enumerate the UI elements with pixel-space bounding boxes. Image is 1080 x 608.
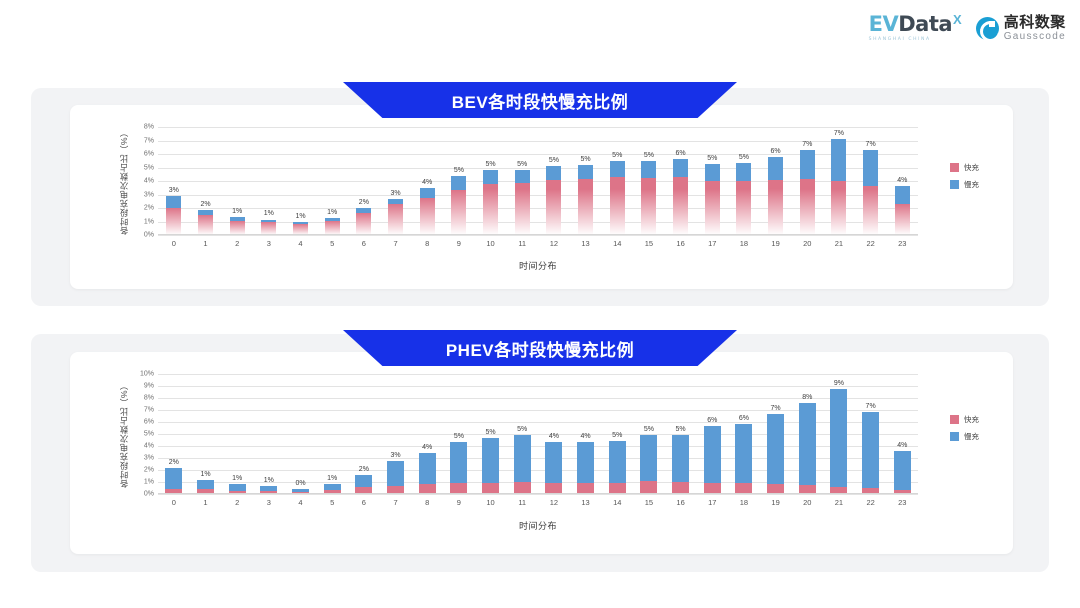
bar-column[interactable]: 105% bbox=[475, 127, 507, 235]
bar-segment-fast-charge[interactable] bbox=[863, 186, 878, 235]
bar-segment-slow-charge[interactable] bbox=[831, 139, 846, 181]
bar-segment-fast-charge[interactable] bbox=[641, 178, 656, 235]
bar-column[interactable]: 175% bbox=[696, 127, 728, 235]
chart-bev-x-axis-label: 时间分布 bbox=[519, 259, 557, 272]
stacked-bar[interactable]: 5% bbox=[705, 164, 720, 235]
stacked-bar[interactable]: 7% bbox=[767, 414, 784, 494]
x-axis-tick: 10 bbox=[486, 239, 494, 248]
bar-value-label: 4% bbox=[422, 444, 432, 451]
bar-value-label: 4% bbox=[897, 442, 907, 449]
bar-value-label: 5% bbox=[707, 155, 717, 162]
bar-value-label: 6% bbox=[676, 150, 686, 157]
x-axis-tick: 12 bbox=[550, 239, 558, 248]
stacked-bar[interactable]: 5% bbox=[640, 435, 657, 494]
y-axis-tick: 4% bbox=[144, 443, 154, 450]
gausscode-name-cn: 高科数聚 bbox=[1004, 15, 1066, 30]
bar-value-label: 4% bbox=[897, 177, 907, 184]
bar-column[interactable]: 21% bbox=[221, 374, 253, 494]
bar-column[interactable]: 02% bbox=[158, 374, 190, 494]
y-axis-tick: 5% bbox=[144, 431, 154, 438]
x-axis-tick: 19 bbox=[771, 498, 779, 507]
bar-segment-slow-charge[interactable] bbox=[704, 426, 721, 483]
x-axis-tick: 0 bbox=[172, 239, 176, 248]
bar-segment-slow-charge[interactable] bbox=[863, 150, 878, 186]
page-header: EV Data X SHANGHAI CHINA 高科数聚 Gausscode bbox=[0, 0, 1080, 62]
x-axis-tick: 14 bbox=[613, 498, 621, 507]
bar-value-label: 5% bbox=[485, 429, 495, 436]
stacked-bar[interactable]: 5% bbox=[578, 165, 593, 235]
bar-value-label: 4% bbox=[422, 179, 432, 186]
phev-title-ribbon: PHEV各时段快慢充比例 bbox=[343, 330, 737, 366]
stacked-bar[interactable]: 4% bbox=[419, 453, 436, 494]
bar-value-label: 5% bbox=[517, 161, 527, 168]
x-axis-tick: 2 bbox=[235, 239, 239, 248]
stacked-bar[interactable]: 2% bbox=[355, 475, 372, 494]
bar-column[interactable]: 62% bbox=[348, 374, 380, 494]
bev-chart: 各时段充电次数占比（%）0%1%2%3%4%5%6%7%8%03%12%21%3… bbox=[70, 105, 1013, 289]
stacked-bar[interactable]: 5% bbox=[641, 161, 656, 235]
bar-value-label: 7% bbox=[866, 141, 876, 148]
x-axis-tick: 2 bbox=[235, 498, 239, 507]
x-axis-tick: 20 bbox=[803, 498, 811, 507]
bar-segment-slow-charge[interactable] bbox=[799, 403, 816, 485]
y-axis-tick: 3% bbox=[144, 455, 154, 462]
bar-segment-slow-charge[interactable] bbox=[165, 468, 182, 489]
stacked-bar[interactable]: 5% bbox=[451, 176, 466, 235]
stacked-bar[interactable]: 6% bbox=[704, 426, 721, 494]
phev-chart-card: 各时段充电次数占比（%）0%1%2%3%4%5%6%7%8%9%10%02%11… bbox=[70, 352, 1013, 554]
x-axis-tick: 9 bbox=[457, 498, 461, 507]
bar-segment-slow-charge[interactable] bbox=[514, 435, 531, 482]
stacked-bar[interactable]: 4% bbox=[420, 188, 435, 235]
stacked-bar[interactable]: 2% bbox=[198, 210, 213, 235]
bar-segment-slow-charge[interactable] bbox=[166, 196, 181, 208]
bar-segment-slow-charge[interactable] bbox=[862, 412, 879, 488]
bar-segment-slow-charge[interactable] bbox=[578, 165, 593, 179]
gausscode-name-en: Gausscode bbox=[1004, 32, 1066, 42]
bar-column[interactable]: 219% bbox=[823, 374, 855, 494]
bar-value-label: 5% bbox=[612, 152, 622, 159]
bar-column[interactable]: 31% bbox=[253, 127, 285, 235]
bar-value-label: 5% bbox=[549, 157, 559, 164]
bar-segment-fast-charge[interactable] bbox=[705, 181, 720, 235]
stacked-bar[interactable]: 9% bbox=[830, 389, 847, 494]
bar-column[interactable]: 62% bbox=[348, 127, 380, 235]
y-axis-tick: 1% bbox=[144, 218, 154, 225]
gausscode-mark-icon bbox=[976, 17, 999, 40]
bar-value-label: 1% bbox=[327, 209, 337, 216]
x-axis-tick: 1 bbox=[203, 239, 207, 248]
phev-panel: 各时段充电次数占比（%）0%1%2%3%4%5%6%7%8%9%10%02%11… bbox=[31, 334, 1049, 572]
stacked-bar[interactable]: 1% bbox=[230, 217, 245, 235]
y-axis-tick: 8% bbox=[144, 395, 154, 402]
y-axis-tick: 6% bbox=[144, 151, 154, 158]
legend-item[interactable]: 快充 bbox=[950, 162, 979, 173]
bar-column[interactable]: 217% bbox=[823, 127, 855, 235]
x-axis-tick: 11 bbox=[518, 239, 526, 248]
bar-segment-fast-charge[interactable] bbox=[451, 190, 466, 235]
bar-column[interactable]: 84% bbox=[411, 127, 443, 235]
bar-column[interactable]: 95% bbox=[443, 127, 475, 235]
bar-segment-fast-charge[interactable] bbox=[198, 215, 213, 235]
x-axis-tick: 5 bbox=[330, 498, 334, 507]
y-axis-tick: 7% bbox=[144, 137, 154, 144]
chart-phev-bar-group: 02%11%21%31%40%51%62%73%84%95%105%115%12… bbox=[158, 374, 918, 494]
stacked-bar[interactable]: 5% bbox=[672, 435, 689, 494]
bar-column[interactable]: 115% bbox=[506, 374, 538, 494]
bar-segment-slow-charge[interactable] bbox=[483, 170, 498, 184]
stacked-bar[interactable]: 4% bbox=[545, 442, 562, 494]
x-axis-tick: 17 bbox=[708, 239, 716, 248]
gridline bbox=[158, 235, 918, 236]
bar-column[interactable]: 227% bbox=[855, 127, 887, 235]
stacked-bar[interactable]: 4% bbox=[894, 451, 911, 494]
bar-segment-slow-charge[interactable] bbox=[768, 157, 783, 180]
x-axis-tick: 16 bbox=[676, 239, 684, 248]
bar-value-label: 1% bbox=[327, 475, 337, 482]
bar-segment-slow-charge[interactable] bbox=[451, 176, 466, 190]
stacked-bar[interactable]: 7% bbox=[862, 412, 879, 494]
chart-bev-legend: 快充慢充 bbox=[950, 162, 979, 190]
bar-segment-fast-charge[interactable] bbox=[768, 180, 783, 235]
stacked-bar[interactable]: 6% bbox=[673, 159, 688, 235]
gausscode-logo: 高科数聚 Gausscode bbox=[976, 15, 1066, 42]
bar-column[interactable]: 31% bbox=[253, 374, 285, 494]
x-axis-tick: 4 bbox=[298, 239, 302, 248]
bar-value-label: 1% bbox=[232, 475, 242, 482]
x-axis-tick: 23 bbox=[898, 239, 906, 248]
bar-value-label: 0% bbox=[295, 480, 305, 487]
bar-segment-fast-charge[interactable] bbox=[356, 213, 371, 235]
bar-value-label: 7% bbox=[866, 403, 876, 410]
stacked-bar[interactable]: 4% bbox=[895, 186, 910, 235]
bev-chart-card: 各时段充电次数占比（%）0%1%2%3%4%5%6%7%8%03%12%21%3… bbox=[70, 105, 1013, 289]
phev-chart: 各时段充电次数占比（%）0%1%2%3%4%5%6%7%8%9%10%02%11… bbox=[70, 352, 1013, 554]
bar-segment-slow-charge[interactable] bbox=[482, 438, 499, 483]
bar-value-label: 3% bbox=[390, 190, 400, 197]
stacked-bar[interactable]: 2% bbox=[165, 468, 182, 494]
legend-label: 慢充 bbox=[964, 431, 979, 442]
x-axis-tick: 10 bbox=[486, 498, 494, 507]
bar-segment-slow-charge[interactable] bbox=[736, 163, 751, 181]
bar-column[interactable]: 11% bbox=[190, 374, 222, 494]
bar-segment-fast-charge[interactable] bbox=[578, 179, 593, 235]
bar-segment-fast-charge[interactable] bbox=[166, 208, 181, 235]
bar-column[interactable]: 12% bbox=[190, 127, 222, 235]
bar-column[interactable]: 115% bbox=[506, 127, 538, 235]
bar-segment-fast-charge[interactable] bbox=[388, 204, 403, 235]
bar-segment-fast-charge[interactable] bbox=[895, 204, 910, 235]
x-axis-tick: 7 bbox=[393, 239, 397, 248]
bar-segment-fast-charge[interactable] bbox=[673, 177, 688, 235]
bar-segment-slow-charge[interactable] bbox=[420, 188, 435, 198]
bar-value-label: 8% bbox=[802, 394, 812, 401]
chart-bev-bar-group: 03%12%21%31%41%51%62%73%84%95%105%115%12… bbox=[158, 127, 918, 235]
bar-segment-slow-charge[interactable] bbox=[450, 442, 467, 483]
gridline bbox=[158, 494, 918, 495]
x-axis-tick: 4 bbox=[298, 498, 302, 507]
logo-group: EV Data X SHANGHAI CHINA 高科数聚 Gausscode bbox=[869, 14, 1066, 42]
bar-value-label: 5% bbox=[485, 161, 495, 168]
stacked-bar[interactable]: 1% bbox=[261, 219, 276, 235]
bar-column[interactable]: 197% bbox=[760, 374, 792, 494]
stacked-bar[interactable]: 1% bbox=[293, 222, 308, 236]
bar-segment-slow-charge[interactable] bbox=[672, 435, 689, 482]
bar-column[interactable]: 186% bbox=[728, 374, 760, 494]
y-axis-tick: 2% bbox=[144, 205, 154, 212]
y-axis-tick: 5% bbox=[144, 164, 154, 171]
bar-segment-slow-charge[interactable] bbox=[546, 166, 561, 180]
bar-column[interactable]: 155% bbox=[633, 374, 665, 494]
bar-value-label: 1% bbox=[200, 471, 210, 478]
bar-value-label: 1% bbox=[295, 213, 305, 220]
legend-label: 慢充 bbox=[964, 179, 979, 190]
y-axis-tick: 0% bbox=[144, 232, 154, 239]
bar-value-label: 1% bbox=[264, 210, 274, 217]
bar-value-label: 5% bbox=[454, 167, 464, 174]
stacked-bar[interactable]: 7% bbox=[800, 150, 815, 235]
x-axis-tick: 6 bbox=[362, 239, 366, 248]
bar-column[interactable]: 155% bbox=[633, 127, 665, 235]
bar-value-label: 1% bbox=[264, 477, 274, 484]
phev-title-text: PHEV各时段快慢充比例 bbox=[446, 336, 634, 361]
x-axis-tick: 12 bbox=[550, 498, 558, 507]
bar-value-label: 7% bbox=[802, 141, 812, 148]
x-axis-tick: 3 bbox=[267, 239, 271, 248]
bar-column[interactable]: 185% bbox=[728, 127, 760, 235]
bar-segment-slow-charge[interactable] bbox=[767, 414, 784, 484]
legend-label: 快充 bbox=[964, 414, 979, 425]
bar-column[interactable]: 51% bbox=[316, 374, 348, 494]
x-axis-tick: 5 bbox=[330, 239, 334, 248]
stacked-bar[interactable]: 4% bbox=[577, 442, 594, 494]
x-axis-tick: 15 bbox=[645, 239, 653, 248]
chart-phev-x-axis-label: 时间分布 bbox=[519, 519, 557, 532]
bar-segment-fast-charge[interactable] bbox=[230, 221, 245, 235]
bar-segment-slow-charge[interactable] bbox=[735, 424, 752, 482]
bar-value-label: 2% bbox=[169, 459, 179, 466]
x-axis-tick: 1 bbox=[203, 498, 207, 507]
stacked-bar[interactable]: 7% bbox=[831, 139, 846, 235]
bar-segment-slow-charge[interactable] bbox=[640, 435, 657, 481]
bar-value-label: 5% bbox=[612, 432, 622, 439]
x-axis-tick: 18 bbox=[740, 498, 748, 507]
bar-value-label: 4% bbox=[581, 433, 591, 440]
bar-segment-slow-charge[interactable] bbox=[387, 461, 404, 486]
stacked-bar[interactable]: 5% bbox=[546, 166, 561, 235]
bar-segment-slow-charge[interactable] bbox=[830, 389, 847, 486]
stacked-bar[interactable]: 8% bbox=[799, 403, 816, 494]
stacked-bar[interactable]: 5% bbox=[515, 170, 530, 235]
bar-column[interactable]: 95% bbox=[443, 374, 475, 494]
chart-phev-y-axis-label: 各时段充电次数占比（%） bbox=[118, 374, 130, 494]
bar-column[interactable]: 03% bbox=[158, 127, 190, 235]
bar-value-label: 2% bbox=[359, 199, 369, 206]
bar-column[interactable]: 208% bbox=[791, 374, 823, 494]
bar-segment-slow-charge[interactable] bbox=[800, 150, 815, 179]
x-axis-tick: 6 bbox=[362, 498, 366, 507]
x-axis-line bbox=[158, 493, 918, 494]
bar-column[interactable]: 73% bbox=[380, 127, 412, 235]
bar-value-label: 3% bbox=[169, 187, 179, 194]
bar-segment-slow-charge[interactable] bbox=[610, 161, 625, 177]
bar-column[interactable]: 196% bbox=[760, 127, 792, 235]
bar-segment-slow-charge[interactable] bbox=[355, 475, 372, 487]
x-axis-tick: 18 bbox=[740, 239, 748, 248]
x-axis-tick: 15 bbox=[645, 498, 653, 507]
bar-segment-fast-charge[interactable] bbox=[515, 183, 530, 235]
bar-column[interactable]: 51% bbox=[316, 127, 348, 235]
evdata-wordmark: EV Data X bbox=[869, 14, 962, 35]
bar-segment-fast-charge[interactable] bbox=[546, 180, 561, 235]
y-axis-tick: 4% bbox=[144, 178, 154, 185]
chart-bev-y-axis-label: 各时段充电次数占比（%） bbox=[118, 127, 130, 235]
x-axis-tick: 8 bbox=[425, 498, 429, 507]
x-axis-tick: 20 bbox=[803, 239, 811, 248]
bar-column[interactable]: 145% bbox=[601, 374, 633, 494]
stacked-bar[interactable]: 3% bbox=[166, 196, 181, 235]
evdata-prefix: EV bbox=[869, 14, 899, 35]
x-axis-tick: 23 bbox=[898, 498, 906, 507]
bar-segment-slow-charge[interactable] bbox=[197, 480, 214, 490]
x-axis-tick: 13 bbox=[581, 239, 589, 248]
bar-column[interactable]: 135% bbox=[570, 127, 602, 235]
bar-segment-fast-charge[interactable] bbox=[325, 221, 340, 235]
stacked-bar[interactable]: 3% bbox=[387, 461, 404, 494]
bar-segment-fast-charge[interactable] bbox=[831, 181, 846, 235]
y-axis-tick: 0% bbox=[144, 491, 154, 498]
x-axis-tick: 17 bbox=[708, 498, 716, 507]
bar-segment-fast-charge[interactable] bbox=[420, 198, 435, 235]
bar-column[interactable]: 176% bbox=[696, 374, 728, 494]
bar-value-label: 5% bbox=[739, 154, 749, 161]
bar-segment-fast-charge[interactable] bbox=[736, 181, 751, 235]
bar-column[interactable]: 41% bbox=[285, 127, 317, 235]
legend-item[interactable]: 快充 bbox=[950, 414, 979, 425]
bar-column[interactable]: 73% bbox=[380, 374, 412, 494]
y-axis-tick: 10% bbox=[140, 371, 154, 378]
bar-segment-slow-charge[interactable] bbox=[577, 442, 594, 482]
y-axis-tick: 8% bbox=[144, 124, 154, 131]
stacked-bar[interactable]: 3% bbox=[388, 199, 403, 235]
bar-segment-fast-charge[interactable] bbox=[483, 184, 498, 235]
bev-title-text: BEV各时段快慢充比例 bbox=[452, 88, 628, 113]
bar-value-label: 3% bbox=[390, 452, 400, 459]
legend-swatch-icon bbox=[950, 163, 959, 172]
x-axis-tick: 14 bbox=[613, 239, 621, 248]
bar-value-label: 5% bbox=[644, 152, 654, 159]
y-axis-tick: 7% bbox=[144, 407, 154, 414]
stacked-bar[interactable]: 5% bbox=[610, 161, 625, 235]
bar-value-label: 1% bbox=[232, 208, 242, 215]
stacked-bar[interactable]: 5% bbox=[450, 442, 467, 494]
x-axis-tick: 8 bbox=[425, 239, 429, 248]
bev-title-ribbon: BEV各时段快慢充比例 bbox=[343, 82, 737, 118]
bar-value-label: 7% bbox=[771, 405, 781, 412]
bar-value-label: 9% bbox=[834, 380, 844, 387]
bar-column[interactable]: 40% bbox=[285, 374, 317, 494]
legend-item[interactable]: 慢充 bbox=[950, 179, 979, 190]
bar-column[interactable]: 166% bbox=[665, 127, 697, 235]
bar-segment-slow-charge[interactable] bbox=[641, 161, 656, 177]
bar-column[interactable]: 234% bbox=[886, 127, 918, 235]
stacked-bar[interactable]: 5% bbox=[483, 170, 498, 235]
bar-column[interactable]: 125% bbox=[538, 127, 570, 235]
bev-panel: 各时段充电次数占比（%）0%1%2%3%4%5%6%7%8%03%12%21%3… bbox=[31, 88, 1049, 306]
x-axis-line bbox=[158, 234, 918, 235]
bar-segment-slow-charge[interactable] bbox=[545, 442, 562, 482]
evdata-rest: Data bbox=[898, 14, 952, 35]
gausscode-wordmark: 高科数聚 Gausscode bbox=[1004, 15, 1066, 42]
bar-column[interactable]: 84% bbox=[411, 374, 443, 494]
stacked-bar[interactable]: 1% bbox=[197, 480, 214, 494]
bar-segment-slow-charge[interactable] bbox=[609, 441, 626, 483]
evdata-superscript-icon: X bbox=[953, 12, 962, 27]
bar-column[interactable]: 234% bbox=[886, 374, 918, 494]
bar-column[interactable]: 207% bbox=[791, 127, 823, 235]
x-axis-tick: 21 bbox=[835, 239, 843, 248]
bar-value-label: 6% bbox=[771, 148, 781, 155]
bar-column[interactable]: 227% bbox=[855, 374, 887, 494]
bar-value-label: 5% bbox=[676, 426, 686, 433]
x-axis-tick: 0 bbox=[172, 498, 176, 507]
bar-segment-fast-charge[interactable] bbox=[800, 179, 815, 235]
chart-phev-legend: 快充慢充 bbox=[950, 414, 979, 442]
chart-phev-plot-area: 0%1%2%3%4%5%6%7%8%9%10%02%11%21%31%40%51… bbox=[158, 374, 918, 494]
stacked-bar[interactable]: 6% bbox=[735, 424, 752, 494]
y-axis-tick: 9% bbox=[144, 383, 154, 390]
stacked-bar[interactable]: 5% bbox=[736, 163, 751, 235]
bar-column[interactable]: 134% bbox=[570, 374, 602, 494]
x-axis-tick: 16 bbox=[676, 498, 684, 507]
stacked-bar[interactable]: 6% bbox=[768, 157, 783, 235]
bar-segment-fast-charge[interactable] bbox=[610, 177, 625, 235]
x-axis-tick: 3 bbox=[267, 498, 271, 507]
bar-segment-slow-charge[interactable] bbox=[894, 451, 911, 491]
bar-value-label: 4% bbox=[549, 433, 559, 440]
evdata-logo: EV Data X SHANGHAI CHINA bbox=[869, 14, 962, 42]
bar-segment-slow-charge[interactable] bbox=[515, 170, 530, 184]
evdata-subtitle: SHANGHAI CHINA bbox=[869, 37, 931, 42]
legend-label: 快充 bbox=[964, 162, 979, 173]
stacked-bar[interactable]: 5% bbox=[482, 438, 499, 494]
bar-column[interactable]: 124% bbox=[538, 374, 570, 494]
y-axis-tick: 3% bbox=[144, 191, 154, 198]
x-axis-tick: 13 bbox=[581, 498, 589, 507]
bar-segment-slow-charge[interactable] bbox=[419, 453, 436, 484]
bar-segment-slow-charge[interactable] bbox=[895, 186, 910, 204]
bar-column[interactable]: 21% bbox=[221, 127, 253, 235]
legend-swatch-icon bbox=[950, 180, 959, 189]
bar-segment-slow-charge[interactable] bbox=[705, 164, 720, 181]
bar-column[interactable]: 165% bbox=[665, 374, 697, 494]
bar-column[interactable]: 105% bbox=[475, 374, 507, 494]
stacked-bar[interactable]: 1% bbox=[325, 218, 340, 235]
stacked-bar[interactable]: 5% bbox=[609, 441, 626, 494]
stacked-bar[interactable]: 7% bbox=[863, 150, 878, 235]
bar-column[interactable]: 145% bbox=[601, 127, 633, 235]
bar-value-label: 5% bbox=[454, 433, 464, 440]
y-axis-tick: 2% bbox=[144, 467, 154, 474]
legend-swatch-icon bbox=[950, 415, 959, 424]
stacked-bar[interactable]: 2% bbox=[356, 208, 371, 235]
legend-item[interactable]: 慢充 bbox=[950, 431, 979, 442]
bar-segment-slow-charge[interactable] bbox=[673, 159, 688, 177]
bar-value-label: 5% bbox=[517, 426, 527, 433]
stacked-bar[interactable]: 5% bbox=[514, 435, 531, 494]
bar-value-label: 7% bbox=[834, 130, 844, 137]
bar-value-label: 5% bbox=[644, 426, 654, 433]
